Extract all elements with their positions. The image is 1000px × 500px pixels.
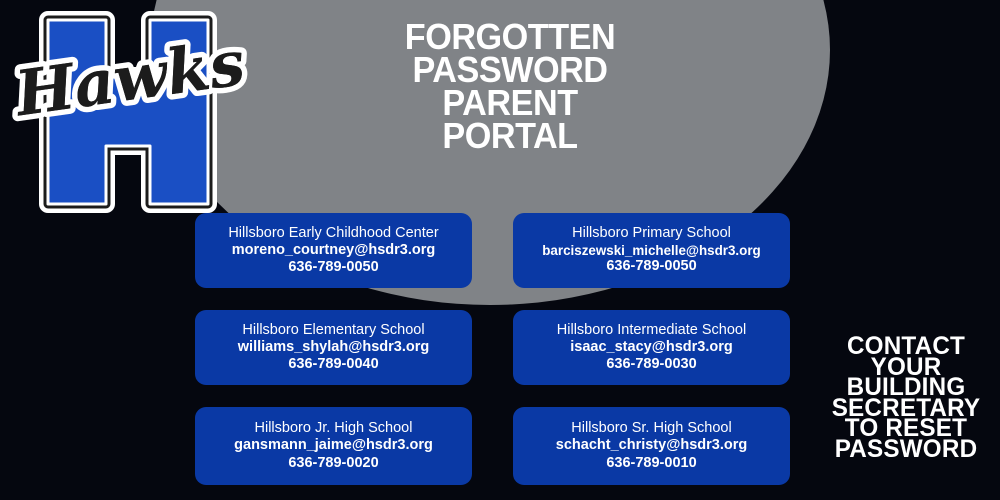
school-phone[interactable]: 636-789-0040 [288, 356, 378, 373]
parent-portal-graphic: Hawks Hawks FORGOTTEN PASSWORD PARENT PO… [0, 0, 1000, 500]
school-email[interactable]: gansmann_jaime@hsdr3.org [234, 437, 433, 454]
school-phone[interactable]: 636-789-0010 [606, 455, 696, 472]
hillsboro-hawks-logo: Hawks Hawks [8, 6, 248, 218]
school-name: Hillsboro Elementary School [242, 322, 424, 339]
school-contact-card: Hillsboro Sr. High School schacht_christ… [513, 407, 790, 485]
school-phone[interactable]: 636-789-0050 [606, 258, 696, 275]
school-contact-card: Hillsboro Intermediate School isaac_stac… [513, 310, 790, 385]
school-contact-card: Hillsboro Elementary School williams_shy… [195, 310, 472, 385]
school-contact-list: Hillsboro Early Childhood Center moreno_… [195, 213, 790, 485]
reset-instructions: CONTACT YOUR BUILDING SECRETARY TO RESET… [820, 336, 992, 459]
page-title: FORGOTTEN PASSWORD PARENT PORTAL [339, 20, 681, 152]
school-phone[interactable]: 636-789-0030 [606, 356, 696, 373]
school-email[interactable]: schacht_christy@hsdr3.org [556, 437, 747, 454]
page-title-line-4: PORTAL [339, 119, 681, 152]
school-contact-card: Hillsboro Jr. High School gansmann_jaime… [195, 407, 472, 485]
school-name: Hillsboro Intermediate School [557, 322, 746, 339]
school-email[interactable]: barciszewski_michelle@hsdr3.org [542, 243, 760, 259]
reset-instructions-line-6: PASSWORD [823, 439, 990, 460]
school-email[interactable]: isaac_stacy@hsdr3.org [570, 339, 732, 356]
school-name: Hillsboro Early Childhood Center [228, 225, 438, 242]
school-name: Hillsboro Primary School [572, 225, 731, 242]
school-contact-card: Hillsboro Primary School barciszewski_mi… [513, 213, 790, 288]
school-phone[interactable]: 636-789-0050 [288, 259, 378, 276]
school-phone[interactable]: 636-789-0020 [288, 455, 378, 472]
school-email[interactable]: williams_shylah@hsdr3.org [238, 339, 429, 356]
school-contact-card: Hillsboro Early Childhood Center moreno_… [195, 213, 472, 288]
school-email[interactable]: moreno_courtney@hsdr3.org [232, 242, 435, 259]
school-name: Hillsboro Jr. High School [255, 420, 413, 437]
school-name: Hillsboro Sr. High School [571, 420, 731, 437]
